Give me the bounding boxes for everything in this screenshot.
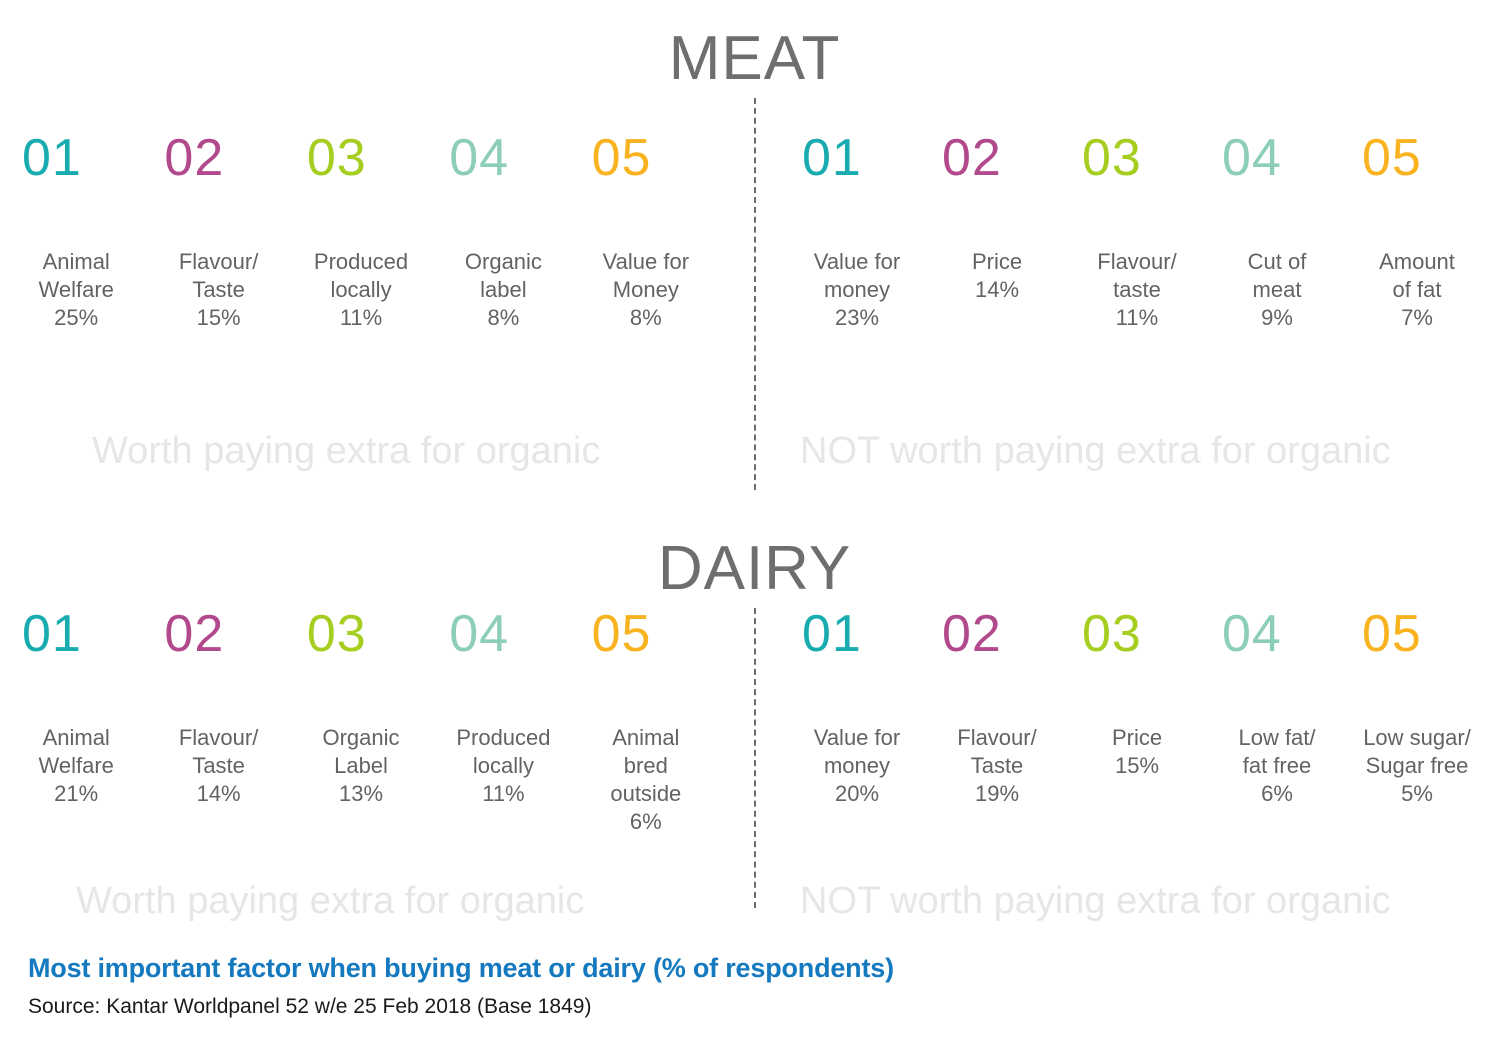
factor-item: 02 Flavour/ Taste 14%: [164, 608, 306, 837]
factor-value: 15%: [1082, 752, 1192, 780]
footer-caption: Most important factor when buying meat o…: [28, 952, 1478, 986]
factor-band-meat-notworth: 01 Value for money 23% 02 Price 14% 03 F…: [802, 132, 1502, 332]
factor-item: 01 Value for money 23%: [802, 132, 942, 332]
watermark-dairy-worth: Worth paying extra for organic: [76, 882, 584, 920]
section-title-meat: MEAT: [0, 28, 1507, 90]
factor-body: Price 14%: [942, 248, 1082, 304]
factor-rank: 04: [1222, 132, 1362, 192]
factor-rank: 01: [22, 132, 164, 192]
footer: Most important factor when buying meat o…: [28, 952, 1478, 1020]
footer-source: Source: Kantar Worldpanel 52 w/e 25 Feb …: [28, 994, 1478, 1020]
factor-value: 6%: [592, 808, 700, 836]
factor-value: 20%: [802, 780, 912, 808]
section-title-dairy: DAIRY: [0, 538, 1507, 600]
factor-item: 04 Produced locally 11%: [449, 608, 591, 837]
factor-item: 03 Produced locally 11%: [307, 132, 449, 332]
factor-item: 04 Low fat/ fat free 6%: [1222, 608, 1362, 808]
factor-value: 8%: [449, 304, 557, 332]
factor-body: Low fat/ fat free 6%: [1222, 724, 1362, 808]
factor-band-dairy-worth: 01 Animal Welfare 21% 02 Flavour/ Taste …: [22, 608, 734, 837]
section-divider-meat: [754, 98, 756, 490]
factor-label: Low fat/ fat free: [1222, 724, 1332, 780]
section-title-meat-text: MEAT: [669, 28, 841, 90]
factor-body: Organic label 8%: [449, 248, 591, 332]
factor-item: 02 Flavour/ Taste 15%: [164, 132, 306, 332]
factor-item: 01 Animal Welfare 21%: [22, 608, 164, 837]
factor-rank: 03: [1082, 608, 1222, 668]
factor-item: 05 Low sugar/ Sugar free 5%: [1362, 608, 1502, 808]
factor-label: Animal bred outside: [592, 724, 700, 808]
section-title-dairy-text: DAIRY: [658, 538, 851, 600]
factor-body: Value for Money 8%: [592, 248, 734, 332]
factor-label: Flavour/ Taste: [164, 248, 272, 304]
factor-item: 03 Organic Label 13%: [307, 608, 449, 837]
factor-body: Flavour/ Taste 14%: [164, 724, 306, 808]
factor-label: Organic Label: [307, 724, 415, 780]
factor-body: Low sugar/ Sugar free 5%: [1362, 724, 1502, 808]
factor-rank: 01: [802, 132, 942, 192]
factor-label: Organic label: [449, 248, 557, 304]
factor-body: Value for money 23%: [802, 248, 942, 332]
factor-label: Produced locally: [307, 248, 415, 304]
factor-item: 01 Value for money 20%: [802, 608, 942, 808]
factor-body: Animal Welfare 21%: [22, 724, 164, 808]
factor-item: 02 Flavour/ Taste 19%: [942, 608, 1082, 808]
factor-label: Flavour/ Taste: [942, 724, 1052, 780]
factor-label: Value for money: [802, 248, 912, 304]
factor-label: Low sugar/ Sugar free: [1362, 724, 1472, 780]
factor-item: 01 Animal Welfare 25%: [22, 132, 164, 332]
section-divider-dairy: [754, 608, 756, 908]
factor-body: Animal Welfare 25%: [22, 248, 164, 332]
factor-label: Flavour/ Taste: [164, 724, 272, 780]
factor-value: 14%: [164, 780, 272, 808]
factor-value: 14%: [942, 276, 1052, 304]
factor-rank: 02: [942, 608, 1082, 668]
factor-value: 6%: [1222, 780, 1332, 808]
watermark-dairy-notworth: NOT worth paying extra for organic: [800, 882, 1391, 920]
factor-value: 5%: [1362, 780, 1472, 808]
factor-value: 11%: [307, 304, 415, 332]
factor-body: Amount of fat 7%: [1362, 248, 1502, 332]
factor-item: 05 Animal bred outside 6%: [592, 608, 734, 837]
factor-item: 03 Price 15%: [1082, 608, 1222, 808]
factor-item: 05 Value for Money 8%: [592, 132, 734, 332]
factor-label: Produced locally: [449, 724, 557, 780]
factor-value: 25%: [22, 304, 130, 332]
factor-label: Price: [942, 248, 1052, 276]
factor-item: 04 Organic label 8%: [449, 132, 591, 332]
factor-value: 8%: [592, 304, 700, 332]
factor-body: Animal bred outside 6%: [592, 724, 734, 837]
factor-body: Flavour/ Taste 15%: [164, 248, 306, 332]
factor-rank: 03: [307, 132, 449, 192]
factor-value: 19%: [942, 780, 1052, 808]
factor-label: Value for Money: [592, 248, 700, 304]
factor-item: 04 Cut of meat 9%: [1222, 132, 1362, 332]
factor-body: Flavour/ Taste 19%: [942, 724, 1082, 808]
watermark-meat-notworth: NOT worth paying extra for organic: [800, 432, 1391, 470]
factor-body: Price 15%: [1082, 724, 1222, 780]
factor-item: 02 Price 14%: [942, 132, 1082, 332]
factor-rank: 05: [1362, 608, 1502, 668]
factor-body: Produced locally 11%: [307, 248, 449, 332]
watermark-meat-worth: Worth paying extra for organic: [92, 432, 600, 470]
factor-value: 21%: [22, 780, 130, 808]
factor-value: 7%: [1362, 304, 1472, 332]
factor-body: Produced locally 11%: [449, 724, 591, 808]
factor-rank: 02: [164, 608, 306, 668]
factor-value: 11%: [1082, 304, 1192, 332]
infographic-canvas: MEAT 01 Animal Welfare 25% 02 Flavour/ T…: [0, 0, 1507, 1048]
factor-value: 13%: [307, 780, 415, 808]
factor-rank: 04: [449, 132, 591, 192]
factor-rank: 05: [1362, 132, 1502, 192]
factor-rank: 05: [592, 132, 734, 192]
factor-band-meat-worth: 01 Animal Welfare 25% 02 Flavour/ Taste …: [22, 132, 734, 332]
factor-label: Flavour/ taste: [1082, 248, 1192, 304]
factor-rank: 02: [164, 132, 306, 192]
factor-value: 9%: [1222, 304, 1332, 332]
factor-rank: 03: [1082, 132, 1222, 192]
factor-label: Cut of meat: [1222, 248, 1332, 304]
factor-rank: 04: [449, 608, 591, 668]
factor-rank: 04: [1222, 608, 1362, 668]
factor-value: 11%: [449, 780, 557, 808]
factor-rank: 02: [942, 132, 1082, 192]
factor-value: 23%: [802, 304, 912, 332]
factor-rank: 01: [22, 608, 164, 668]
factor-label: Animal Welfare: [22, 724, 130, 780]
factor-body: Value for money 20%: [802, 724, 942, 808]
factor-value: 15%: [164, 304, 272, 332]
factor-label: Amount of fat: [1362, 248, 1472, 304]
factor-rank: 05: [592, 608, 734, 668]
factor-band-dairy-notworth: 01 Value for money 20% 02 Flavour/ Taste…: [802, 608, 1502, 808]
factor-label: Animal Welfare: [22, 248, 130, 304]
factor-rank: 03: [307, 608, 449, 668]
factor-rank: 01: [802, 608, 942, 668]
factor-body: Organic Label 13%: [307, 724, 449, 808]
factor-item: 03 Flavour/ taste 11%: [1082, 132, 1222, 332]
factor-label: Price: [1082, 724, 1192, 752]
factor-body: Flavour/ taste 11%: [1082, 248, 1222, 332]
factor-body: Cut of meat 9%: [1222, 248, 1362, 332]
factor-item: 05 Amount of fat 7%: [1362, 132, 1502, 332]
factor-label: Value for money: [802, 724, 912, 780]
